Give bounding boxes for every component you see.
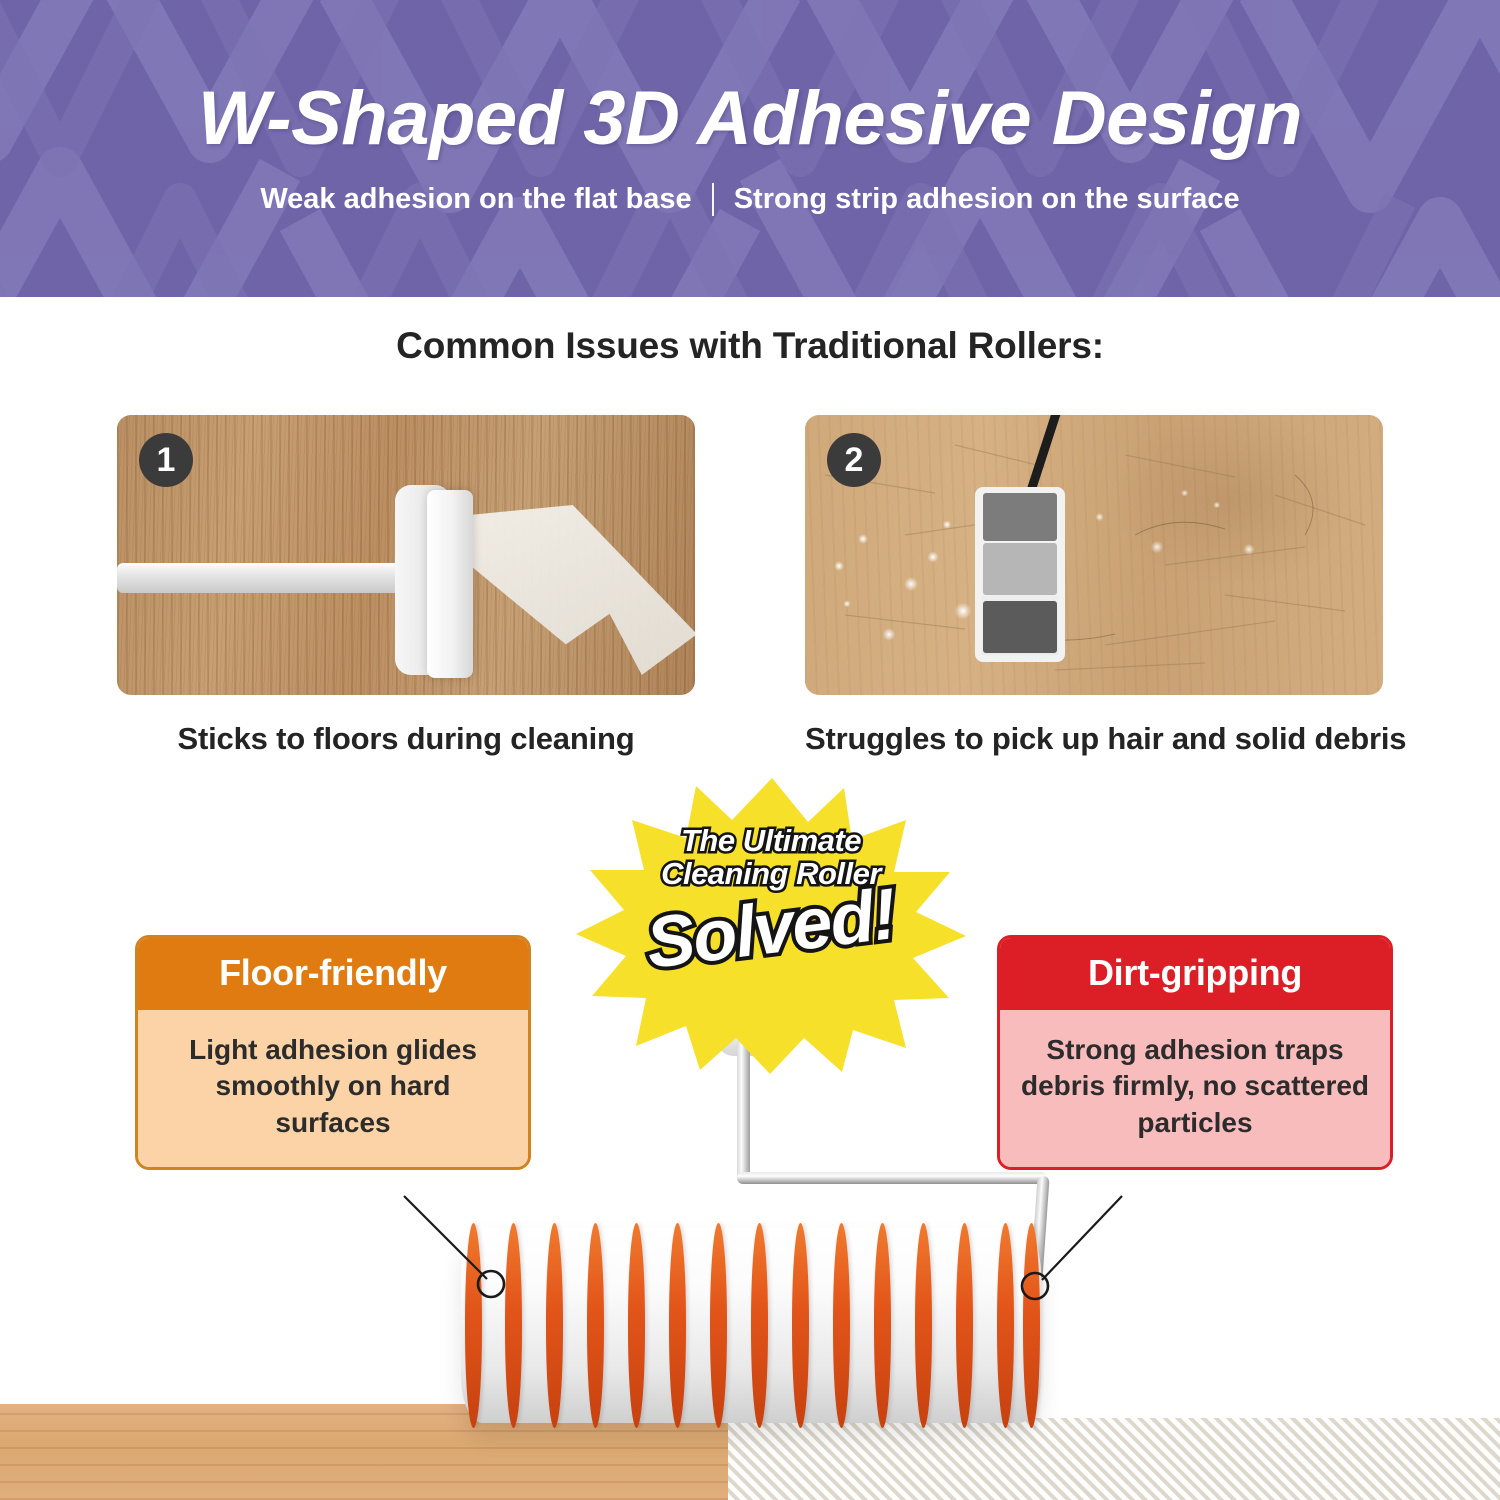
carpet-strip — [728, 1418, 1500, 1500]
issue-card-2: 2 Struggles to pick up hair and solid de… — [805, 415, 1383, 757]
mop-pad-band-top — [983, 493, 1057, 541]
mop-pad-band-bottom — [983, 601, 1057, 653]
adhesive-ring — [751, 1223, 768, 1428]
step-badge-2: 2 — [827, 433, 881, 487]
adhesive-ring — [874, 1223, 891, 1428]
issue-caption-1: Sticks to floors during cleaning — [117, 721, 695, 757]
adhesive-ring — [628, 1223, 645, 1428]
header-subtitle: Weak adhesion on the flat base Strong st… — [260, 183, 1239, 216]
subtitle-left: Weak adhesion on the flat base — [260, 183, 691, 216]
callout-body-dirt-gripping: Strong adhesion traps debris firmly, no … — [1000, 1010, 1390, 1167]
adhesive-sheet-peel — [467, 505, 695, 675]
step-badge-1: 1 — [139, 433, 193, 487]
issue-caption-2: Struggles to pick up hair and solid debr… — [805, 721, 1383, 757]
header-banner: W-Shaped 3D Adhesive Design Weak adhesio… — [0, 0, 1500, 297]
lint-roller-drum — [427, 490, 473, 678]
lint-roller-photo: 1 — [117, 415, 695, 695]
subtitle-right: Strong strip adhesion on the surface — [734, 183, 1240, 216]
issues-row: 1 Sticks to floors during cleaning — [0, 415, 1500, 755]
callout-title-dirt-gripping: Dirt-gripping — [1000, 938, 1390, 1010]
callout-card-dirt-gripping: Dirt-gripping Strong adhesion traps debr… — [997, 935, 1393, 1170]
adhesive-ring — [792, 1223, 809, 1428]
adhesive-ring — [956, 1223, 973, 1428]
adhesive-ring — [546, 1223, 563, 1428]
solved-burst-badge: The Ultimate Cleaning Roller Solved! — [576, 776, 966, 1076]
page-title: W-Shaped 3D Adhesive Design — [198, 81, 1302, 157]
adhesive-ring — [997, 1223, 1014, 1428]
dust-mop-photo: 2 — [805, 415, 1383, 695]
lint-roller-handle — [117, 563, 417, 593]
adhesive-ring — [587, 1223, 604, 1428]
scattered-powder-right — [1065, 475, 1295, 595]
issue-card-1: 1 Sticks to floors during cleaning — [117, 415, 695, 757]
callout-title-floor-friendly: Floor-friendly — [138, 938, 528, 1010]
callout-body-floor-friendly: Light adhesion glides smoothly on hard s… — [138, 1010, 528, 1167]
callout-card-floor-friendly: Floor-friendly Light adhesion glides smo… — [135, 935, 531, 1170]
subtitle-divider — [712, 183, 714, 216]
adhesive-ring — [465, 1223, 482, 1428]
adhesive-ring — [710, 1223, 727, 1428]
adhesive-ring — [1023, 1223, 1040, 1428]
starburst-shape-icon — [576, 776, 966, 1076]
adhesive-ring — [669, 1223, 686, 1428]
adhesive-ring — [833, 1223, 850, 1428]
roller-drum — [461, 1228, 1041, 1423]
mop-pad-band-middle — [983, 543, 1057, 595]
roller-frame-horizontal — [737, 1172, 1047, 1184]
issues-section-title: Common Issues with Traditional Rollers: — [0, 325, 1500, 367]
adhesive-ring — [915, 1223, 932, 1428]
adhesive-ring — [505, 1223, 522, 1428]
